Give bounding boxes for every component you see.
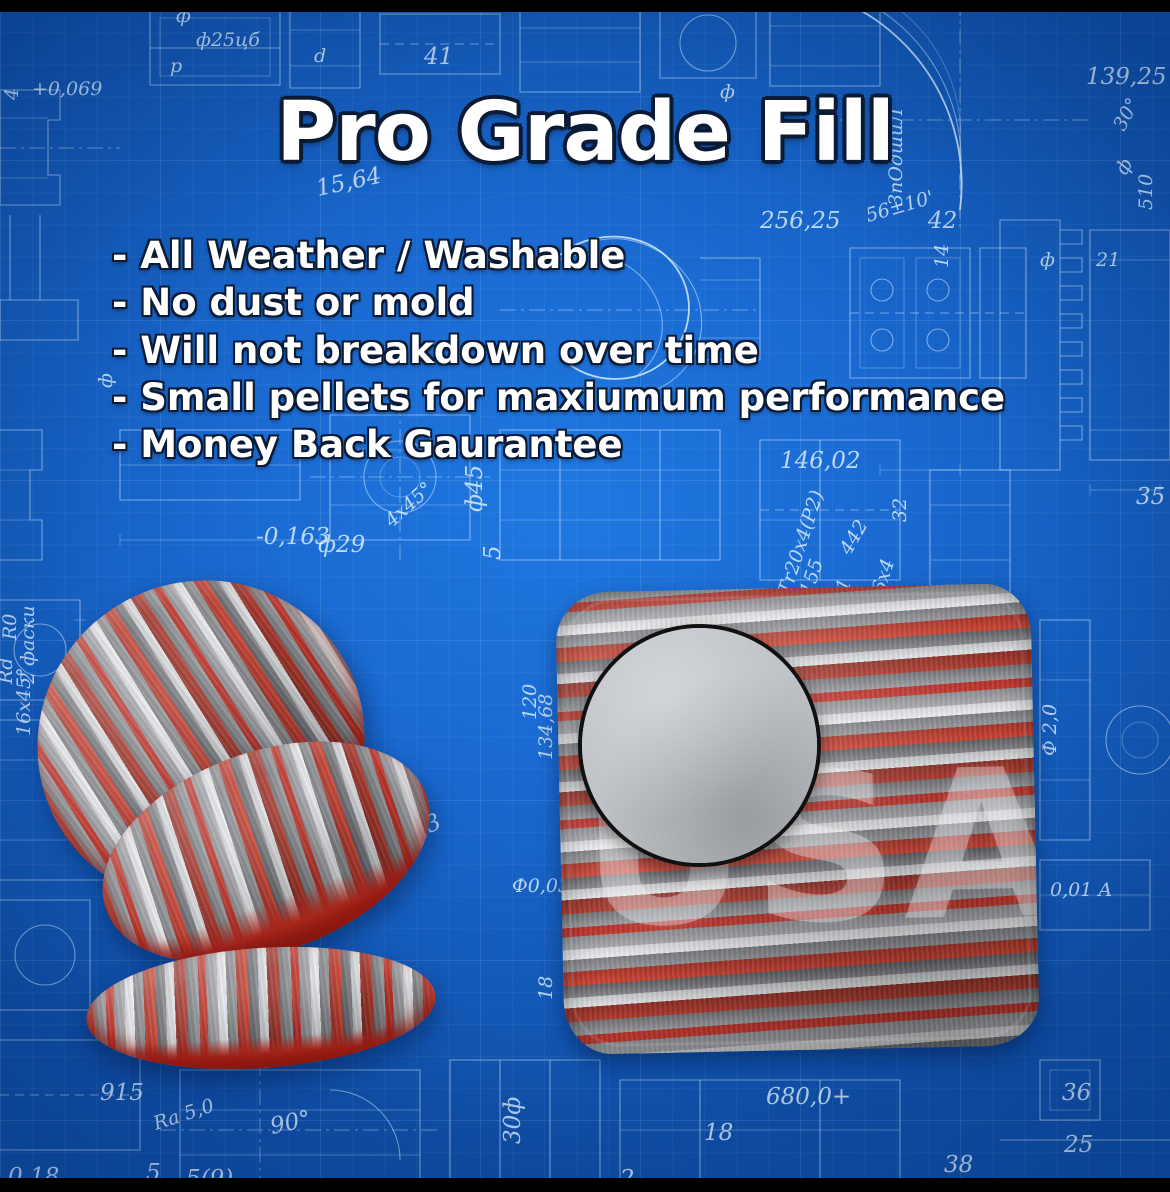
feature-item: - Money Back Gaurantee	[112, 421, 1032, 468]
feature-item: - All Weather / Washable	[112, 232, 1032, 279]
feature-item: - Small pellets for maxiumum performance	[112, 374, 1032, 421]
feature-item: - Will not breakdown over time	[112, 327, 1032, 374]
pellet-closeup-circle	[578, 624, 821, 867]
top-letterbox-bar	[0, 0, 1170, 12]
feature-list: - All Weather / Washable - No dust or mo…	[112, 232, 1032, 469]
bottom-letterbox-bar	[0, 1178, 1170, 1192]
poster-image: 4 +0,069 ф ф25цб p d 41 ф 139,25 30° ф 1…	[0, 0, 1170, 1192]
page-title: Pro Grade Fill	[0, 92, 1170, 174]
pellet-fill-texture	[582, 628, 817, 863]
cornhole-bag-angled-bottom	[82, 936, 440, 1080]
feature-item: - No dust or mold	[112, 279, 1032, 326]
